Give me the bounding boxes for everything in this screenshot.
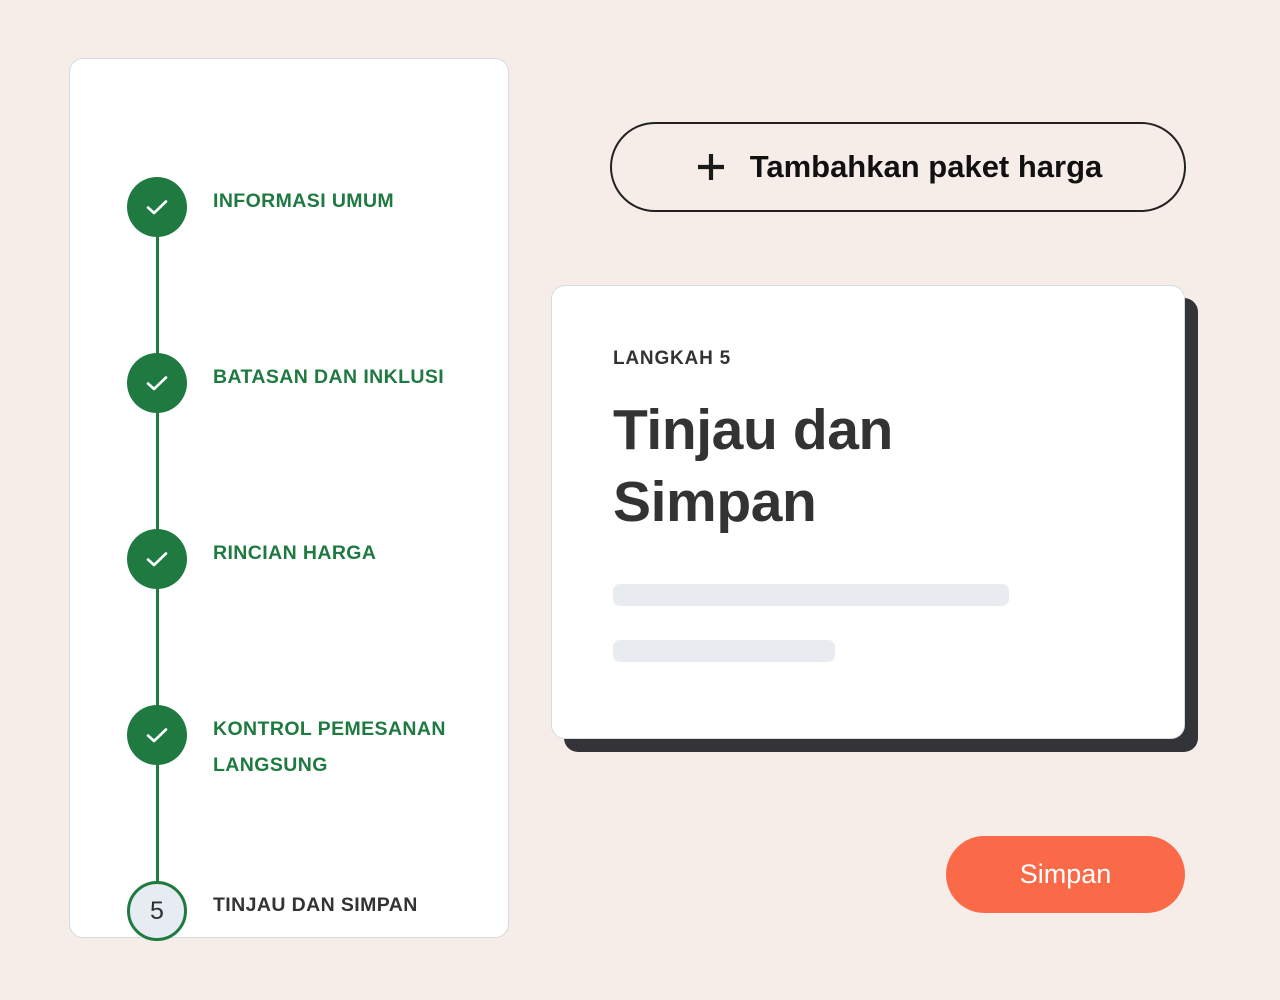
stepper-item-label: BATASAN DAN INKLUSI bbox=[213, 353, 444, 395]
check-icon bbox=[143, 193, 171, 221]
progress-stepper: INFORMASI UMUM BATASAN DAN INKLUSI RINCI… bbox=[70, 59, 508, 937]
check-icon bbox=[143, 369, 171, 397]
stepper-item-tinjau-dan-simpan[interactable]: 5 TINJAU DAN SIMPAN bbox=[127, 881, 527, 941]
step-marker-5: 5 bbox=[127, 881, 187, 941]
stepper-item-rincian-harga[interactable]: RINCIAN HARGA bbox=[127, 529, 527, 589]
step-marker-3 bbox=[127, 529, 187, 589]
stepper-item-label: KONTROL PEMESANAN LANGSUNG bbox=[213, 705, 513, 783]
step-marker-2 bbox=[127, 353, 187, 413]
page-title: Tinjau dan Simpan bbox=[613, 394, 1033, 538]
step-marker-4 bbox=[127, 705, 187, 765]
stepper-item-batasan-dan-inklusi[interactable]: BATASAN DAN INKLUSI bbox=[127, 353, 527, 413]
review-card-container: LANGKAH 5 Tinjau dan Simpan bbox=[551, 285, 1185, 739]
check-icon bbox=[143, 545, 171, 573]
skeleton-line-short bbox=[613, 640, 835, 662]
stepper-item-label: TINJAU DAN SIMPAN bbox=[213, 881, 418, 923]
check-icon bbox=[143, 721, 171, 749]
add-price-package-button[interactable]: Tambahkan paket harga bbox=[610, 122, 1186, 212]
step-marker-1 bbox=[127, 177, 187, 237]
content-placeholder-group bbox=[613, 584, 1184, 662]
save-button-label: Simpan bbox=[1020, 859, 1112, 890]
stepper-item-label: RINCIAN HARGA bbox=[213, 529, 376, 571]
step-eyebrow-label: LANGKAH 5 bbox=[613, 348, 1184, 370]
add-price-package-label: Tambahkan paket harga bbox=[750, 149, 1103, 185]
stepper-item-kontrol-pemesanan-langsung[interactable]: KONTROL PEMESANAN LANGSUNG bbox=[127, 705, 527, 783]
plus-icon bbox=[694, 150, 728, 184]
stepper-item-informasi-umum[interactable]: INFORMASI UMUM bbox=[127, 177, 527, 237]
stepper-item-label: INFORMASI UMUM bbox=[213, 177, 394, 219]
skeleton-line-long bbox=[613, 584, 1009, 606]
save-button[interactable]: Simpan bbox=[946, 836, 1185, 913]
step-number-label: 5 bbox=[150, 899, 164, 924]
review-card: LANGKAH 5 Tinjau dan Simpan bbox=[551, 285, 1185, 739]
stepper-card: INFORMASI UMUM BATASAN DAN INKLUSI RINCI… bbox=[69, 58, 509, 938]
